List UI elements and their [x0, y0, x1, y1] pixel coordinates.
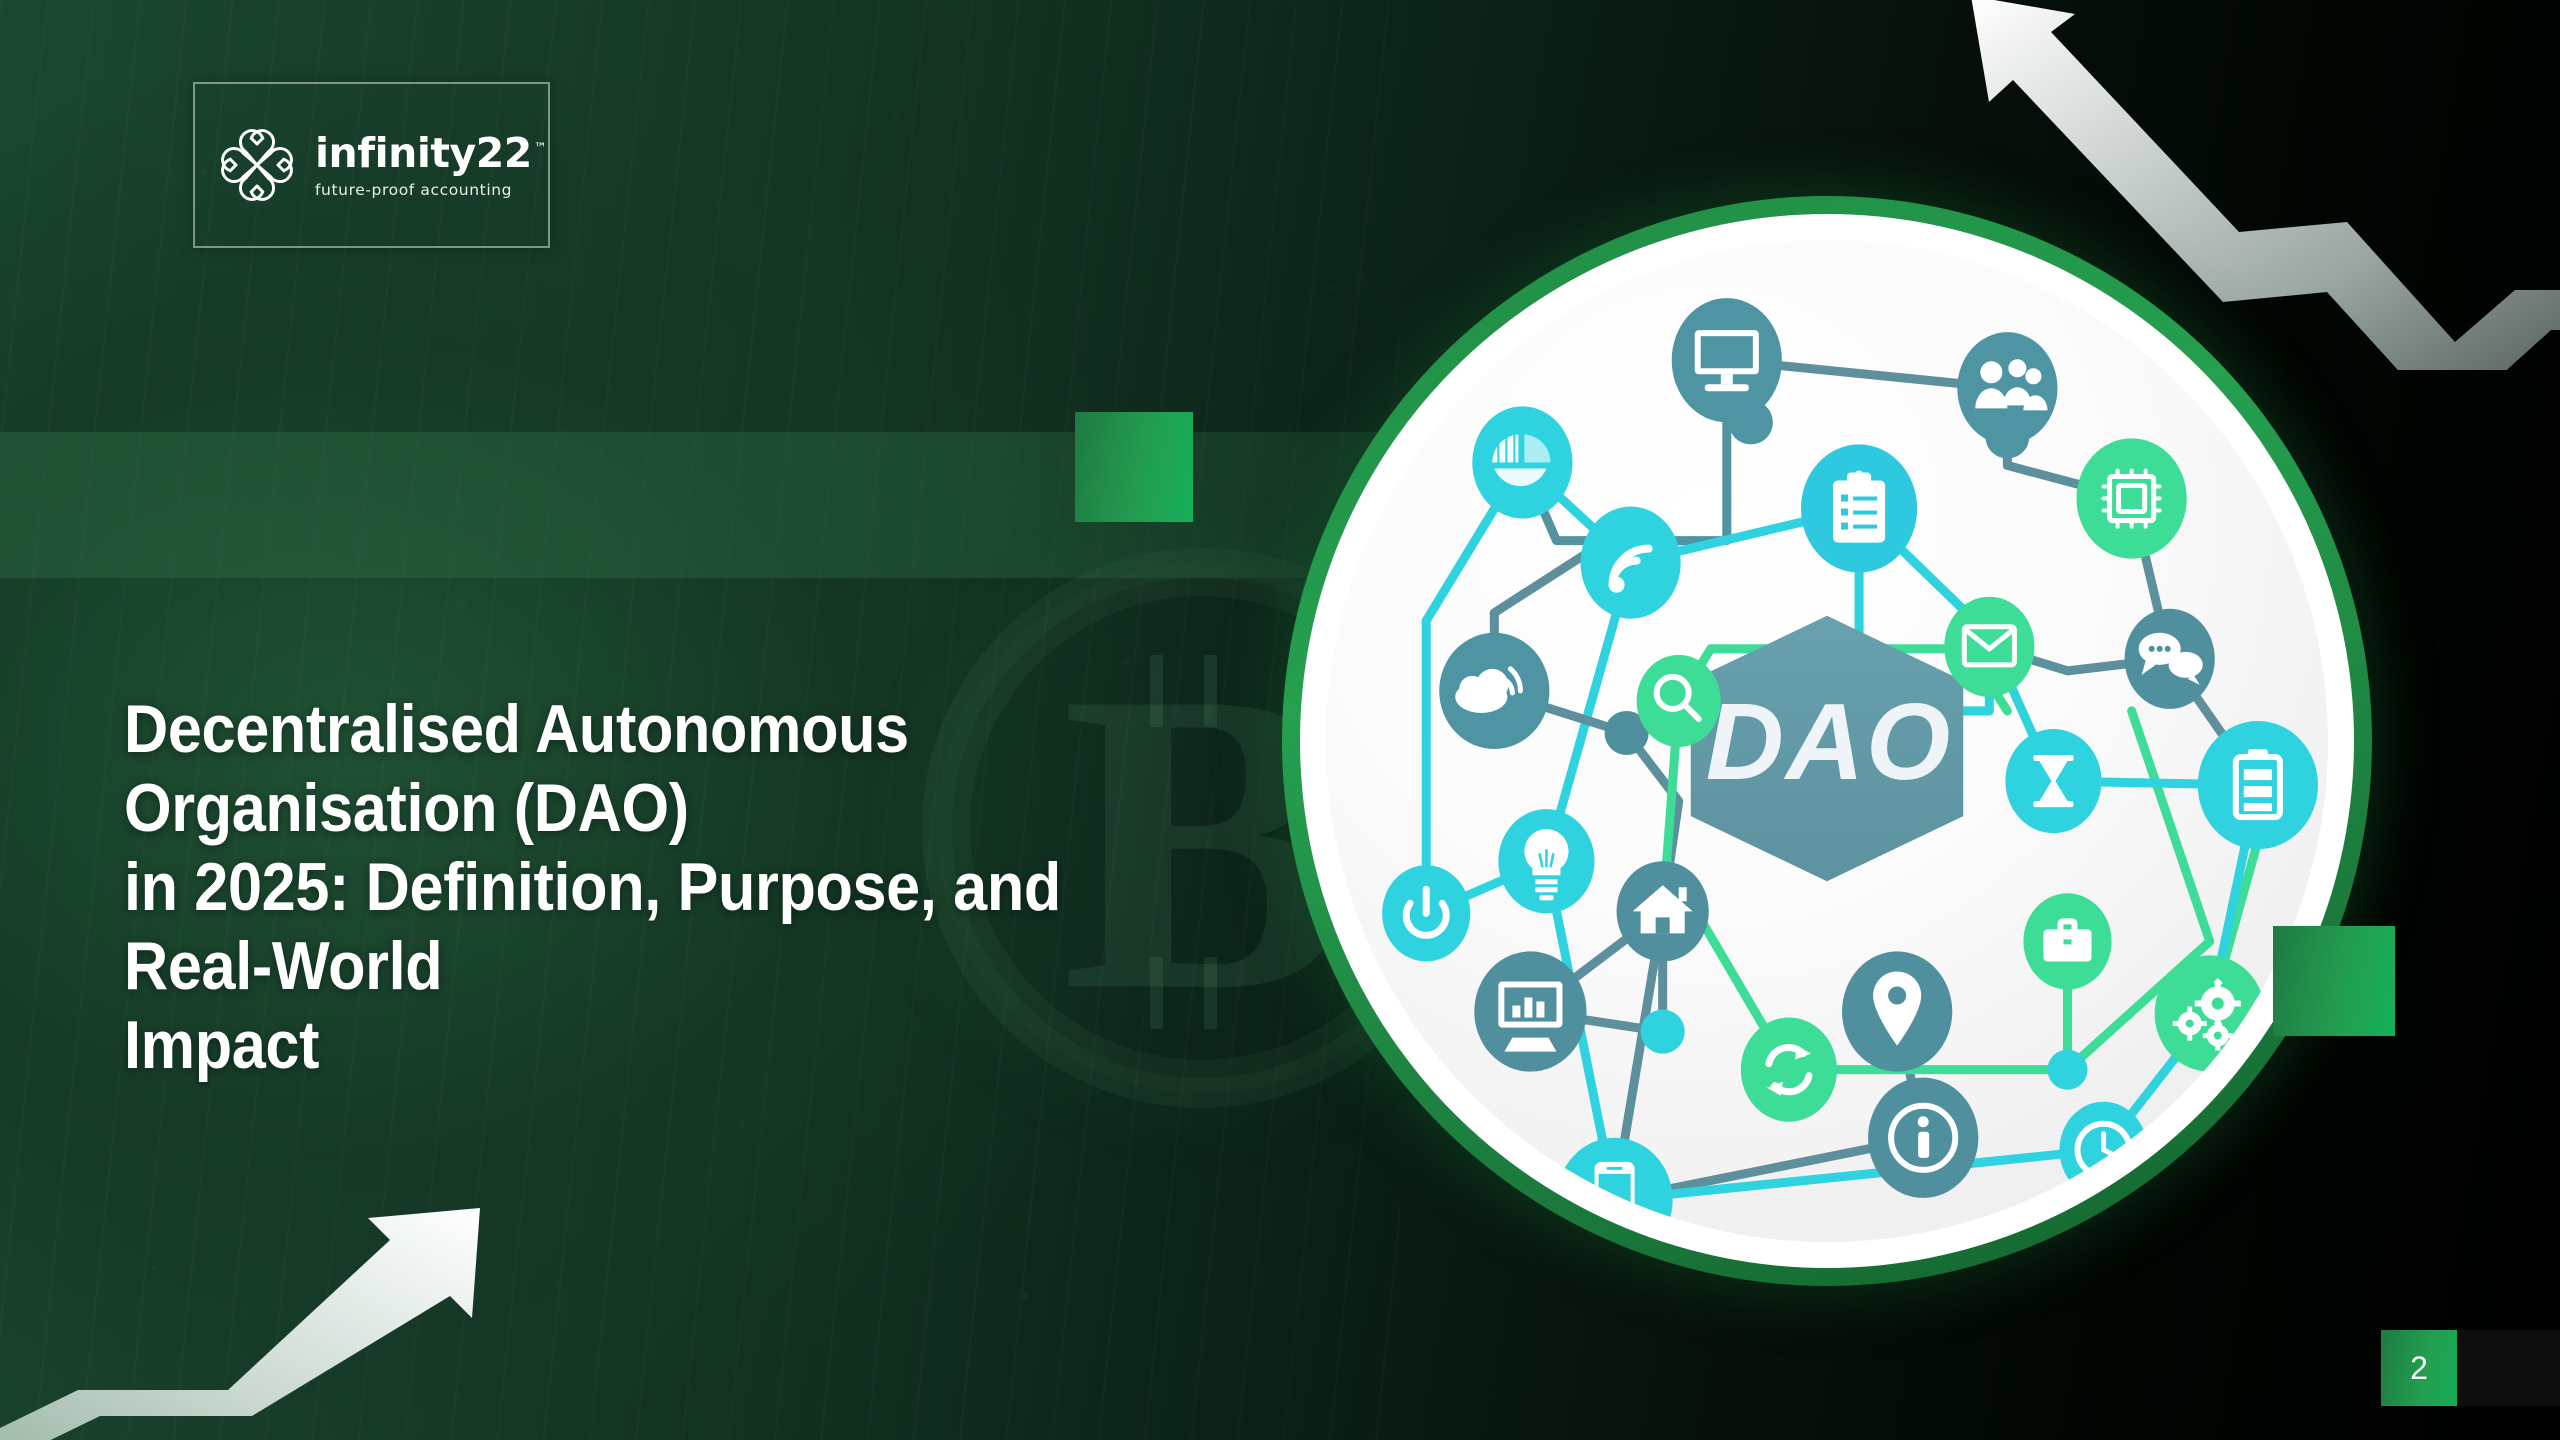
- node-gears: [2155, 955, 2265, 1071]
- node-power: [1382, 865, 1470, 961]
- brand-logo[interactable]: infinity22™ future-proof accounting: [193, 82, 550, 248]
- node-pie-chart: [1472, 406, 1572, 518]
- brand-name: infinity22™: [315, 133, 547, 174]
- page-number: 2: [2381, 1330, 2457, 1406]
- dao-network-svg: DAO: [1326, 240, 2328, 1242]
- node-battery: [2198, 721, 2318, 849]
- node-search: [1637, 655, 1721, 747]
- node-lightbulb: [1498, 809, 1594, 913]
- node-analytics-monitor: [1474, 951, 1586, 1071]
- green-accent-square-right: [2273, 926, 2395, 1036]
- node-location-pin: [1842, 951, 1952, 1071]
- brand-tagline: future-proof accounting: [315, 181, 547, 199]
- slide-canvas: B: [0, 0, 2560, 1440]
- node-refresh: [1741, 1018, 1837, 1122]
- node-wifi: [1581, 507, 1681, 619]
- node-monitor: [1672, 298, 1782, 422]
- node-clock: [2059, 1102, 2147, 1198]
- node-smartphone: [1556, 1138, 1672, 1242]
- page-title: Decentralised Autonomous Organisation (D…: [124, 690, 1186, 1084]
- node-home: [1617, 861, 1709, 961]
- infinity-knot-icon: [213, 105, 301, 225]
- dao-face: DAO: [1326, 240, 2328, 1242]
- node-envelope: [1944, 597, 2034, 697]
- trademark-symbol: ™: [534, 141, 547, 156]
- dao-center-label: DAO: [1706, 681, 1952, 802]
- node-cloud: [1439, 633, 1549, 749]
- node-hourglass: [2005, 729, 2101, 833]
- node-briefcase: [2023, 893, 2111, 989]
- dao-network-illustration: DAO: [1282, 196, 2372, 1286]
- node-clipboard: [1801, 444, 1917, 572]
- node-cpu-chip: [2076, 438, 2186, 558]
- green-accent-square-top: [1075, 412, 1193, 522]
- node-info: [1868, 1078, 1978, 1198]
- page-number-bar: [2457, 1330, 2560, 1406]
- node-chat-bubbles: [2125, 609, 2215, 709]
- node-users: [1957, 332, 2057, 444]
- up-trend-arrow: [0, 1090, 560, 1440]
